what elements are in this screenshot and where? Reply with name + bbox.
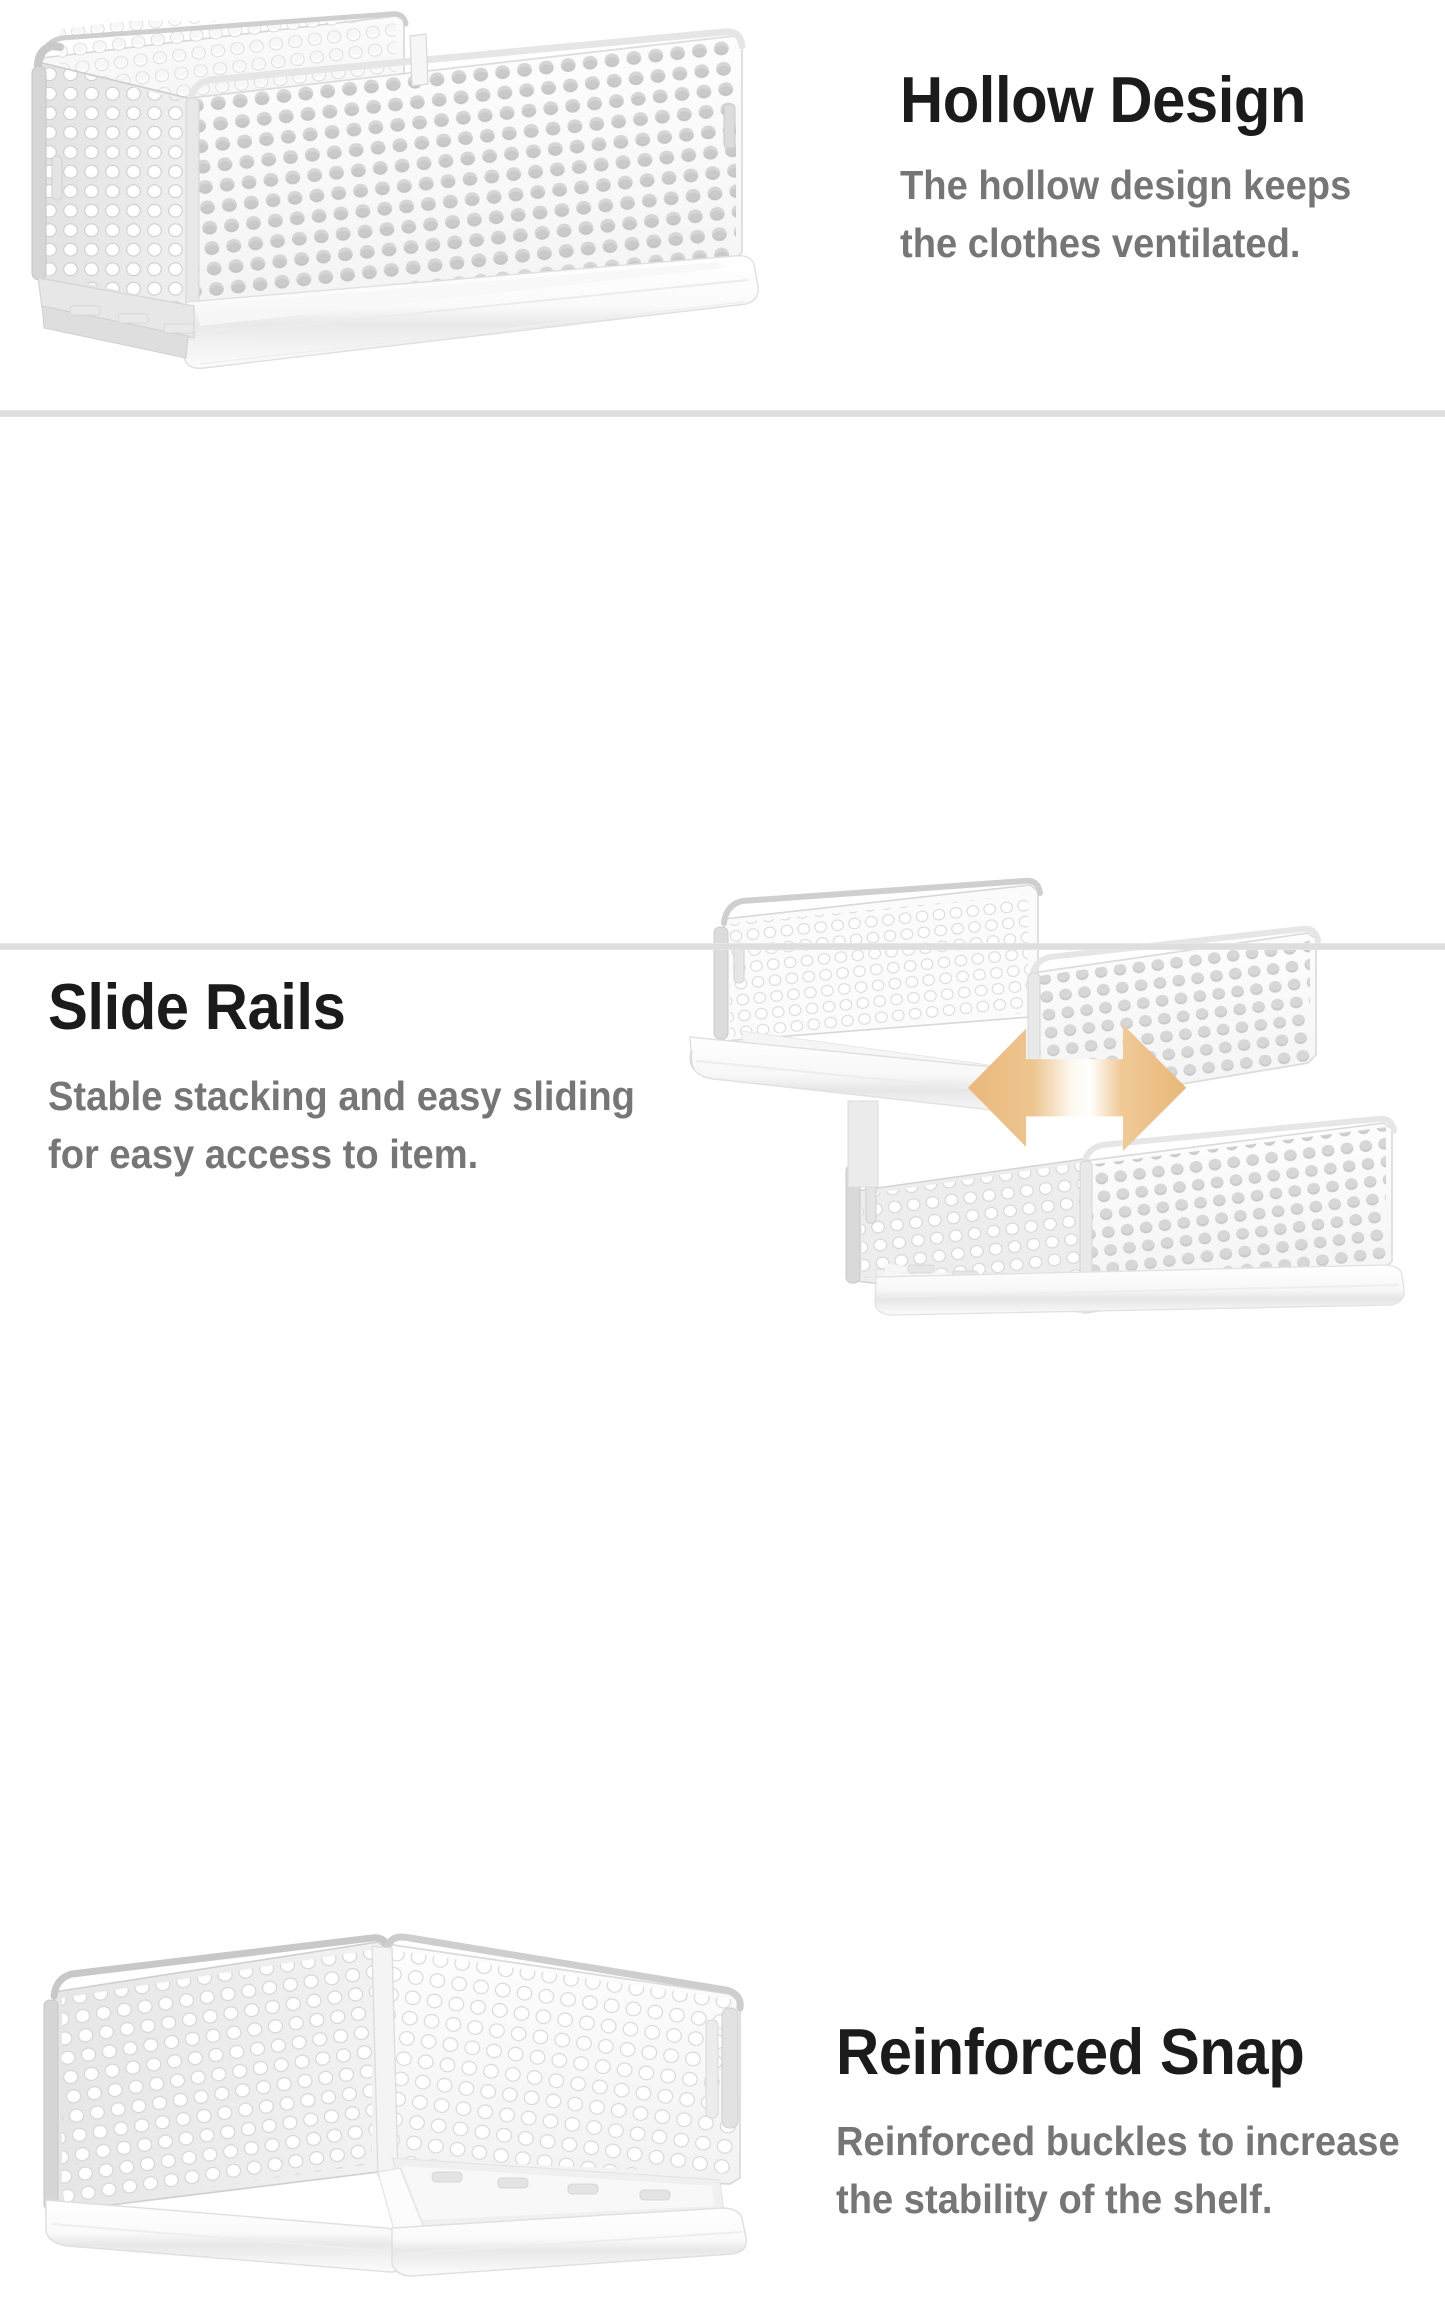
left-panel — [29, 1928, 412, 2242]
product-image-reinforced-snap — [20, 1928, 790, 2303]
feature-section-slide-rails: Slide Rails Stable stacking and easy sli… — [0, 417, 1445, 945]
section-divider-2 — [0, 943, 1445, 950]
feature-text-hollow-design: Hollow Design The hollow design keeps th… — [900, 66, 1385, 273]
subtitle-line-2: the stability of the shelf. — [836, 2170, 1400, 2228]
section-divider-1 — [0, 410, 1445, 417]
feature-text-reinforced-snap: Reinforced Snap Reinforced buckles to in… — [836, 2018, 1442, 2229]
infographic-page: Hollow Design The hollow design keeps th… — [0, 0, 1445, 1358]
reinforced-buckle — [498, 2178, 528, 2188]
feature-section-hollow-design: Hollow Design The hollow design keeps th… — [0, 0, 1445, 410]
subtitle-line-1: Reinforced buckles to increase — [836, 2112, 1400, 2170]
subtitle-line-2: the clothes ventilated. — [900, 214, 1351, 272]
feature-heading-hollow-design: Hollow Design — [900, 66, 1346, 134]
subtitle-line-1: The hollow design keeps — [900, 156, 1351, 214]
reinforced-buckle — [568, 2184, 598, 2194]
reinforced-buckle — [432, 2172, 462, 2182]
product-image-hollow-design — [18, 6, 788, 406]
feature-heading-reinforced-snap: Reinforced Snap — [836, 2018, 1394, 2086]
feature-subtitle-reinforced-snap: Reinforced buckles to increase the stabi… — [836, 2112, 1400, 2228]
reinforced-buckle — [640, 2190, 670, 2200]
feature-section-reinforced-snap: Reinforced Snap Reinforced buckles to in… — [0, 950, 1445, 1358]
feature-subtitle-hollow-design: The hollow design keeps the clothes vent… — [900, 156, 1351, 272]
